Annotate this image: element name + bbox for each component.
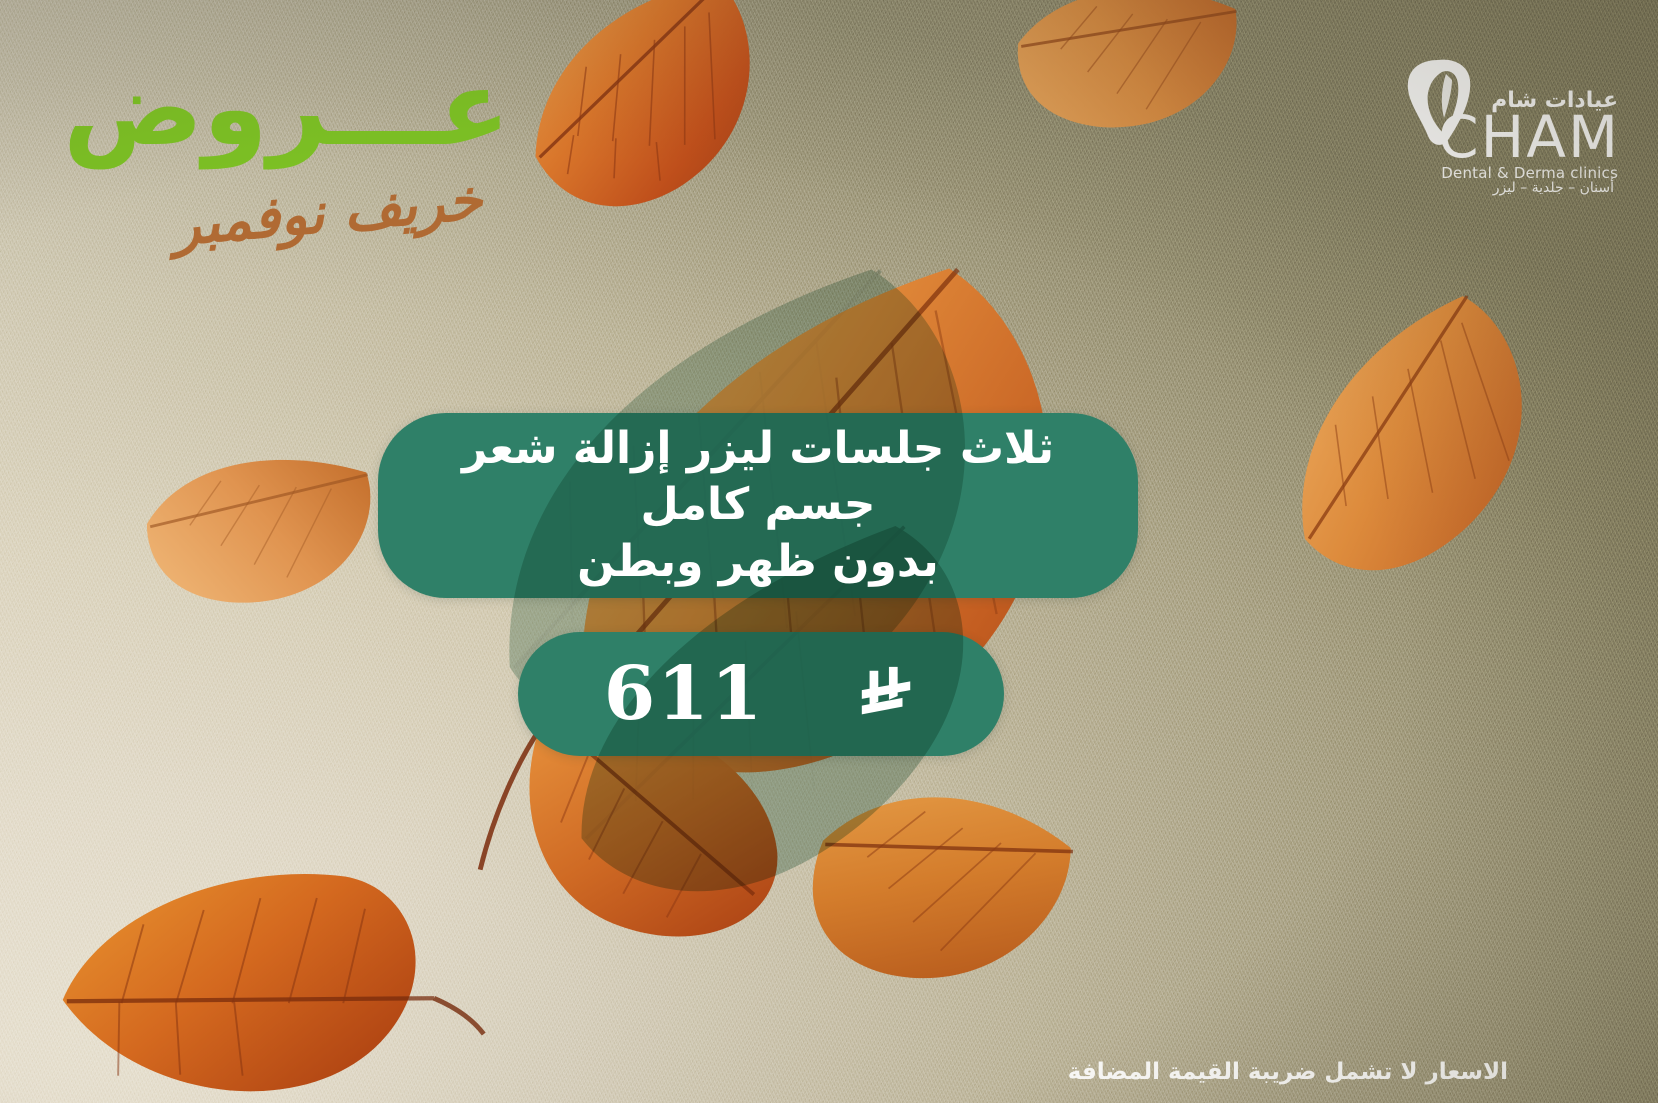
price-row: 611 bbox=[518, 651, 1004, 737]
price-amount: 611 bbox=[604, 651, 764, 737]
offer-line-2: بدون ظهر وبطن bbox=[577, 536, 939, 587]
offer-text-block: ثلاث جلسات ليزر إزالة شعر جسم كامل بدون … bbox=[378, 421, 1138, 590]
offer-line-1: ثلاث جلسات ليزر إزالة شعر جسم كامل bbox=[462, 423, 1054, 530]
saudi-riyal-icon bbox=[856, 663, 918, 725]
promo-poster: عـــروض خريف نوفمبر عيادات شام CHAM Dent… bbox=[0, 0, 1658, 1103]
offer-panel: ثلاث جلسات ليزر إزالة شعر جسم كامل بدون … bbox=[378, 413, 1138, 598]
